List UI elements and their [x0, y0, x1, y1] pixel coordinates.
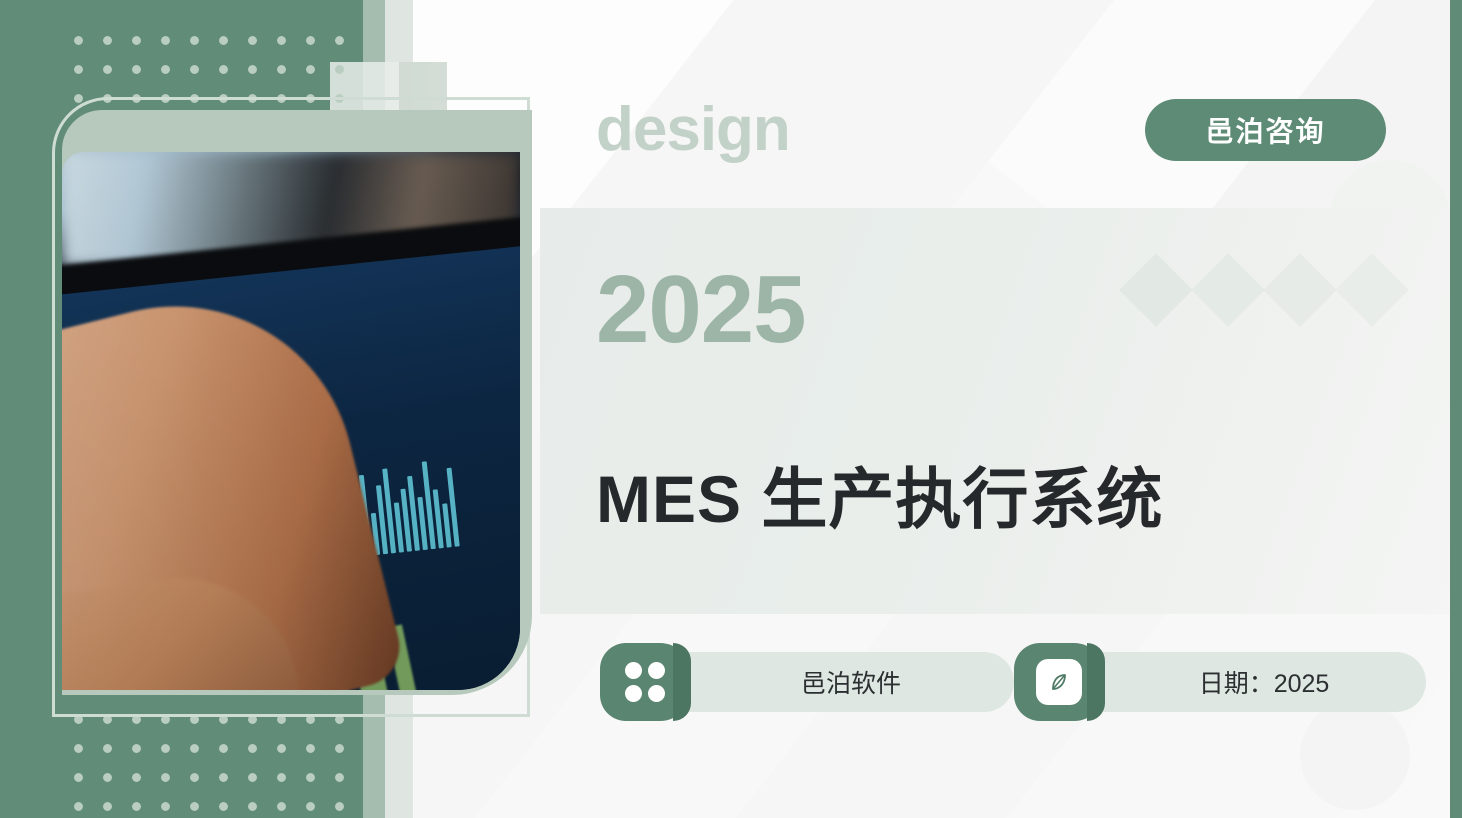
design-word: design: [596, 94, 790, 165]
diamond-icon: [1263, 253, 1337, 327]
photo-content: [62, 152, 520, 690]
flower-icon: [625, 662, 665, 702]
photo-image: [62, 152, 520, 690]
footer-item-date[interactable]: 日期：2025: [1014, 643, 1426, 721]
diamond-icon: [1191, 253, 1265, 327]
leaf-glyph: [1045, 668, 1073, 696]
footer-icon-badge: [600, 643, 690, 721]
diamond-decoration-group: [1130, 264, 1398, 316]
slide-canvas: design 2025 MES 生产执行系统 邑泊咨询 邑泊软件: [0, 0, 1462, 818]
diamond-icon: [1335, 253, 1409, 327]
footer-label-software: 邑泊软件: [674, 652, 1014, 712]
year-label: 2025: [596, 255, 806, 365]
diamond-icon: [1119, 253, 1193, 327]
footer-label-date: 日期：2025: [1088, 652, 1426, 712]
footer-item-software[interactable]: 邑泊软件: [600, 643, 1014, 721]
page-title: MES 生产执行系统: [596, 446, 1163, 542]
photo-tint-overlay: [62, 152, 520, 690]
brand-badge[interactable]: 邑泊咨询: [1145, 99, 1386, 161]
leaf-icon: [1036, 659, 1082, 705]
right-edge-stripe: [1450, 0, 1462, 818]
dot-grid-icon: [64, 705, 354, 818]
footer-icon-badge: [1014, 643, 1104, 721]
brand-badge-label: 邑泊咨询: [1205, 110, 1325, 150]
